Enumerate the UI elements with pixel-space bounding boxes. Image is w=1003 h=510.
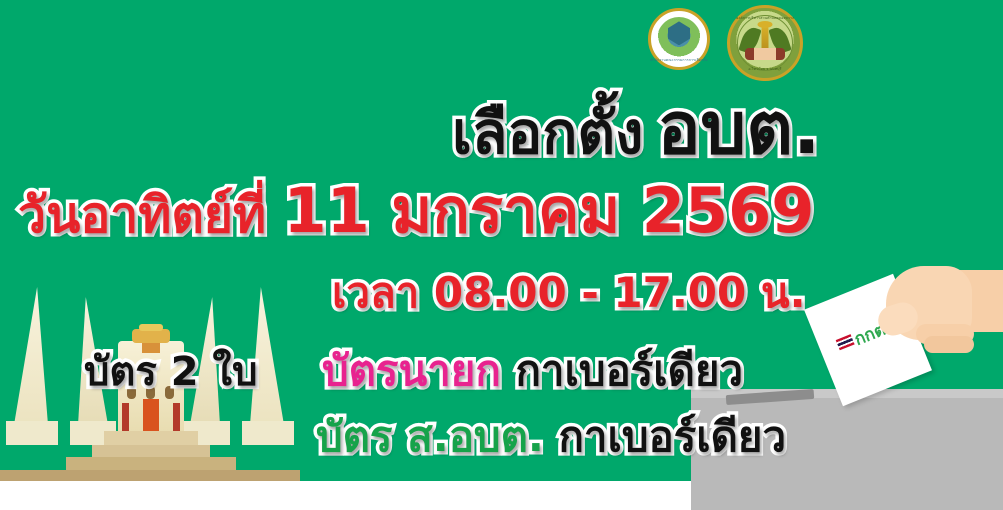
election-commission-emblem-icon: สำนักงานคณะกรรมการการเลือกตั้ง: [648, 8, 710, 70]
ballot-row-council-label: บัตร ส.อบต.: [316, 416, 544, 458]
date-value: 11 มกราคม 2569: [283, 180, 814, 242]
voting-time-text: เวลา 08.00 - 17.00 น.: [332, 272, 806, 314]
ballot-row-council: บัตร ส.อบต. กาเบอร์เดียว: [316, 416, 786, 458]
monument-side-door: [173, 403, 180, 433]
ballot-row-mayor-instruction: กาเบอร์เดียว: [515, 350, 743, 392]
local-administration-emblem-icon: องค์การบริหารส่วนตำบลคลองขวาง อ.ไทรน้อย …: [727, 5, 803, 81]
monument-side-door: [122, 403, 129, 433]
emblem-ring-text-bottom: อ.ไทรน้อย จ.นนทบุรี: [748, 66, 781, 72]
election-poster: สำนักงานคณะกรรมการการเลือกตั้ง องค์การบร…: [0, 0, 1003, 510]
ballot-row-mayor-label: บัตรนายก: [322, 350, 501, 392]
date-day-label: วันอาทิตย์ที่: [18, 190, 266, 240]
monument-door: [143, 399, 159, 433]
pillar-icon: [762, 26, 769, 50]
headline-main: อบต.: [657, 92, 820, 164]
monument-wing: [14, 287, 48, 425]
voting-time: เวลา 08.00 - 17.00 น.: [332, 272, 806, 314]
monument-ground: [0, 470, 300, 481]
ballot-count: บัตร 2 ใบ: [84, 352, 257, 392]
hand-casting-ballot-illustration: กกต: [820, 252, 1003, 402]
monument-wing-base: [242, 421, 294, 445]
monument-center-finial: [139, 324, 163, 331]
monument-step: [66, 457, 236, 471]
monument-center-cap: [132, 329, 170, 343]
headline: เลือกตั้งอบต.: [452, 92, 820, 164]
ballot-row-council-instruction: กาเบอร์เดียว: [558, 416, 786, 458]
election-date-line: วันอาทิตย์ที่ 11 มกราคม 2569: [18, 180, 814, 242]
emblem-ring-text: สำนักงานคณะกรรมการการเลือกตั้ง: [650, 58, 707, 63]
ballot-row-mayor: บัตรนายก กาเบอร์เดียว: [322, 350, 743, 392]
headline-prefix: เลือกตั้ง: [452, 104, 643, 162]
handshake-icon: [745, 48, 785, 60]
thai-flag-icon: [836, 334, 855, 350]
monument-wing-base: [6, 421, 58, 445]
finger: [924, 336, 974, 353]
ballot-count-label: บัตร 2 ใบ: [84, 352, 257, 392]
emblem-ring-text-top: องค์การบริหารส่วนตำบลคลองขวาง: [736, 15, 794, 21]
